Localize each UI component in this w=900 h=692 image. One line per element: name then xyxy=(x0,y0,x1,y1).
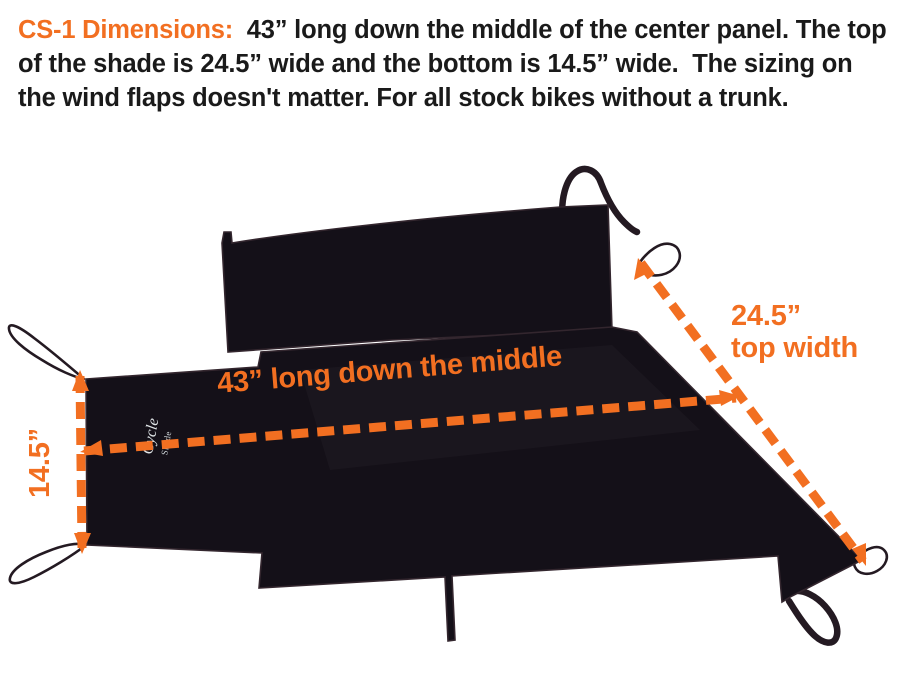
elastic-loop-bottom-left xyxy=(10,544,86,583)
figure-page: CS-1 Dimensions: 43” long down the middl… xyxy=(0,0,900,692)
dimension-label-top-width-value: 24.5” xyxy=(731,300,858,332)
dimension-line-bottom-width xyxy=(80,376,82,548)
strap-bottom-right xyxy=(789,591,837,643)
dimension-label-bottom-width-value: 14.5” xyxy=(24,428,56,498)
dimension-label-bottom-width: 14.5” xyxy=(24,310,56,380)
panel-top-wind-flap xyxy=(222,205,612,352)
dimension-label-top-width-caption: top width xyxy=(731,332,858,364)
dimension-label-top-width: 24.5” top width xyxy=(731,300,858,365)
